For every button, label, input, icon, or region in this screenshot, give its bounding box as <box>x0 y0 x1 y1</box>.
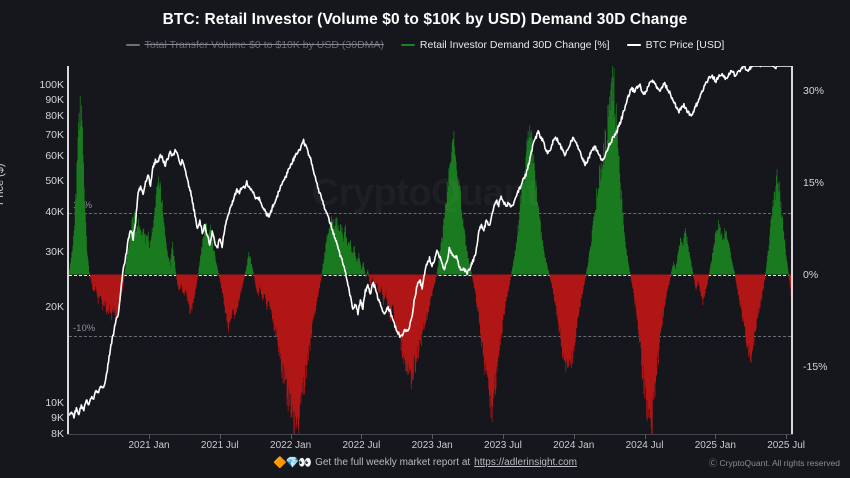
legend-swatch-icon <box>126 44 140 46</box>
sparkle-emoji-icon: 🔶💎👀 <box>273 456 311 469</box>
legend-label: Retail Investor Demand 30D Change [%] <box>420 40 610 51</box>
legend-label: BTC Price [USD] <box>646 40 725 51</box>
x-axis-tick-label: 2022 Jan <box>270 440 311 451</box>
left-axis-tick-label: 20K <box>4 301 64 313</box>
series-canvas <box>69 66 791 434</box>
legend-swatch-icon <box>401 44 415 46</box>
x-axis-tick <box>361 434 362 439</box>
plot-inner: 10%-10% <box>69 66 791 434</box>
x-axis-tick-label: 2024 Jan <box>553 440 594 451</box>
x-axis-tick-label: 2023 Jul <box>484 440 522 451</box>
x-axis-tick <box>645 434 646 439</box>
x-axis-tick <box>291 434 292 439</box>
x-axis-tick-label: 2023 Jan <box>412 440 453 451</box>
demand-area-positive <box>69 66 788 275</box>
footer: 🔶💎👀 Get the full weekly market report at… <box>0 456 850 478</box>
x-axis-line <box>67 434 793 435</box>
legend-item-1[interactable]: Retail Investor Demand 30D Change [%] <box>401 40 610 51</box>
left-axis-tick-label: 100K <box>4 79 64 91</box>
legend-item-0[interactable]: Total Transfer Volume $0 to $10K by USD … <box>126 40 384 51</box>
legend-swatch-icon <box>627 44 641 46</box>
x-axis-tick-label: 2021 Jan <box>128 440 169 451</box>
right-axis-tick-label: 0% <box>803 269 818 281</box>
chart-title: BTC: Retail Investor (Volume $0 to $10K … <box>0 11 850 29</box>
left-axis-tick-label: 60K <box>4 150 64 162</box>
x-axis-tick-label: 2025 Jan <box>695 440 736 451</box>
left-axis-tick-label: 50K <box>4 175 64 187</box>
left-axis-tick-label: 40K <box>4 206 64 218</box>
x-axis-tick <box>220 434 221 439</box>
x-axis-tick <box>503 434 504 439</box>
report-link[interactable]: https://adlerinsight.com <box>474 457 577 468</box>
legend-item-2[interactable]: BTC Price [USD] <box>627 40 725 51</box>
legend-label: Total Transfer Volume $0 to $10K by USD … <box>145 40 384 51</box>
x-axis-tick-label: 2025 Jul <box>767 440 805 451</box>
x-axis: 2021 Jan2021 Jul2022 Jan2022 Jul2023 Jan… <box>67 434 793 456</box>
left-axis-tick-label: 70K <box>4 129 64 141</box>
left-axis: 100K90K80K70K60K50K40K30K20K10K9K8K <box>0 66 64 434</box>
footer-text: Get the full weekly market report at <box>315 457 470 468</box>
x-axis-tick-label: 2022 Jul <box>342 440 380 451</box>
left-axis-tick-label: 10K <box>4 397 64 409</box>
footer-promo: 🔶💎👀 Get the full weekly market report at… <box>273 456 577 469</box>
x-axis-tick-label: 2021 Jul <box>201 440 239 451</box>
left-axis-tick-label: 80K <box>4 110 64 122</box>
left-axis-tick-label: 9K <box>4 412 64 424</box>
right-axis-tick-label: 30% <box>803 85 824 97</box>
x-axis-tick <box>786 434 787 439</box>
right-axis: 30%15%0%-15% <box>797 66 850 434</box>
left-axis-tick-label: 30K <box>4 246 64 258</box>
x-axis-tick <box>715 434 716 439</box>
right-axis-tick-label: -15% <box>803 361 828 373</box>
x-axis-tick <box>574 434 575 439</box>
plot-area[interactable]: 10%-10% <box>67 66 793 434</box>
left-axis-tick-label: 90K <box>4 94 64 106</box>
demand-area-negative <box>90 275 791 434</box>
left-axis-tick-label: 8K <box>4 428 64 440</box>
right-axis-tick-label: 15% <box>803 177 824 189</box>
x-axis-tick <box>149 434 150 439</box>
chart-legend: Total Transfer Volume $0 to $10K by USD … <box>0 40 850 51</box>
copyright: Ⓒ CryptoQuant. All rights reserved <box>709 457 840 469</box>
btc-price-line <box>69 66 791 418</box>
chart-root: BTC: Retail Investor (Volume $0 to $10K … <box>0 0 850 478</box>
x-axis-tick <box>432 434 433 439</box>
x-axis-tick-label: 2024 Jul <box>626 440 664 451</box>
